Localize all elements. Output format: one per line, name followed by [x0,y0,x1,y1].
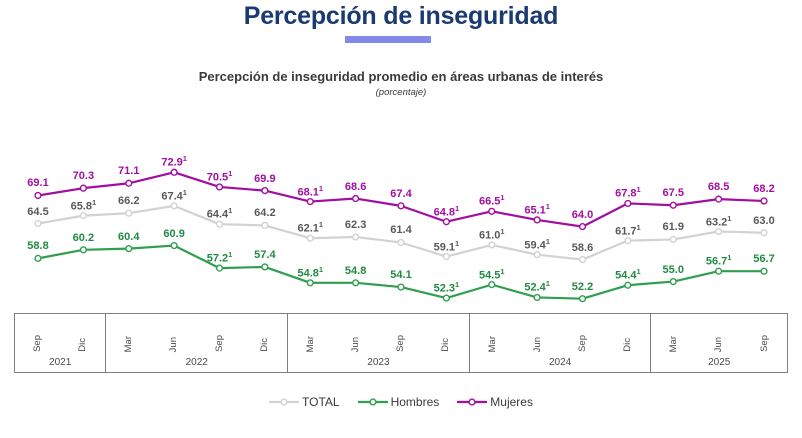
axis-month-label: Sep [215,334,225,352]
data-point-hombres[interactable] [126,246,132,252]
data-point-total[interactable] [489,242,495,248]
data-label-hombres: 54.51 [479,268,505,282]
x-axis-table: SepDic2021MarJunSepDic2022MarJunSepDic20… [14,313,788,373]
axis-month-label: Sep [760,334,770,352]
data-label-hombres: 57.4 [254,250,275,261]
footnote-marker: 1 [319,184,323,193]
data-point-mujeres[interactable] [126,180,132,186]
axis-month-label: Sep [396,334,406,352]
footnote-marker: 1 [546,279,550,288]
data-label-hombres: 52.41 [524,280,550,294]
chart-page: Percepción de inseguridad Percepción de … [0,0,802,438]
data-label-mujeres: 70.3 [73,171,94,182]
data-point-total[interactable] [625,238,631,244]
legend-item-mujeres[interactable]: Mujeres [457,395,533,409]
data-label-hombres: 60.2 [73,233,94,244]
footnote-marker: 1 [500,193,504,202]
data-point-total[interactable] [262,222,268,228]
data-label-total: 64.2 [254,208,275,219]
data-point-total[interactable] [353,234,359,240]
data-label-mujeres: 67.5 [663,188,684,199]
data-label-total: 62.11 [297,221,323,235]
data-point-total[interactable] [398,240,404,246]
footnote-marker: 1 [500,227,504,236]
axis-month-label: Dic [441,337,451,352]
data-point-hombres[interactable] [307,280,313,286]
footnote-marker: 1 [727,214,731,223]
axis-year-label: 2021 [15,352,105,372]
data-point-mujeres[interactable] [580,224,586,230]
data-label-total: 67.41 [161,189,187,203]
data-point-total[interactable] [443,254,449,260]
data-label-total: 64.5 [27,207,48,218]
data-label-total: 63.21 [706,215,732,229]
footnote-marker: 1 [546,237,550,246]
axis-month-label: Mar [306,335,316,352]
axis-year-label: 2023 [288,352,469,372]
data-label-mujeres: 66.51 [479,194,505,208]
legend-label: Mujeres [490,395,533,409]
data-point-mujeres[interactable] [398,203,404,209]
legend-swatch-icon [457,396,487,408]
data-label-total: 63.0 [753,216,774,227]
data-point-hombres[interactable] [670,279,676,285]
axis-month-label: Dic [78,337,88,352]
data-label-hombres: 54.8 [345,266,366,277]
data-point-total[interactable] [80,213,86,219]
data-point-mujeres[interactable] [489,208,495,214]
data-point-total[interactable] [171,203,177,209]
data-point-hombres[interactable] [443,295,449,301]
data-label-hombres: 52.2 [572,282,593,293]
data-point-hombres[interactable] [398,284,404,290]
data-label-total: 61.4 [390,225,411,236]
footnote-marker: 1 [319,220,323,229]
data-point-total[interactable] [307,235,313,241]
data-label-mujeres: 70.51 [207,170,233,184]
data-point-mujeres[interactable] [761,198,767,204]
data-label-hombres: 60.9 [163,229,184,240]
data-point-hombres[interactable] [262,264,268,270]
data-point-mujeres[interactable] [217,184,223,190]
data-label-mujeres: 68.2 [753,184,774,195]
axis-year-group-2025: MarJunSep2025 [651,314,787,372]
axis-month-label: Jun [169,336,179,352]
footnote-marker: 1 [500,267,504,276]
data-point-mujeres[interactable] [35,193,41,199]
axis-year-group-2023: MarJunSepDic2023 [288,314,470,372]
footnote-marker: 1 [637,223,641,232]
data-point-total[interactable] [126,210,132,216]
data-point-mujeres[interactable] [534,217,540,223]
data-label-total: 59.11 [434,240,460,254]
data-point-hombres[interactable] [353,280,359,286]
footnote-marker: 1 [455,239,459,248]
data-point-hombres[interactable] [625,282,631,288]
data-label-total: 59.41 [524,238,550,252]
data-point-hombres[interactable] [80,247,86,253]
data-point-mujeres[interactable] [716,196,722,202]
data-label-total: 66.2 [118,196,139,207]
axis-month-row: MarJunSep [651,314,787,352]
data-label-hombres: 54.81 [297,266,323,280]
footnote-marker: 1 [455,204,459,213]
data-point-total[interactable] [580,257,586,263]
data-label-hombres: 56.71 [706,254,732,268]
data-label-total: 64.41 [207,207,233,221]
data-label-mujeres: 71.1 [118,166,139,177]
axis-month-label: Jun [714,336,724,352]
data-label-mujeres: 69.1 [27,178,48,189]
data-label-mujeres: 68.11 [297,185,323,199]
data-point-mujeres[interactable] [670,202,676,208]
axis-month-row: SepDic [15,314,105,352]
data-point-total[interactable] [35,221,41,227]
axis-month-label: Sep [578,334,588,352]
data-point-total[interactable] [217,221,223,227]
legend-item-hombres[interactable]: Hombres [358,395,440,409]
legend-item-total[interactable]: TOTAL [269,395,340,409]
data-point-hombres[interactable] [217,265,223,271]
data-point-mujeres[interactable] [625,201,631,207]
data-point-mujeres[interactable] [353,196,359,202]
axis-month-label: Dic [260,337,270,352]
axis-year-label: 2022 [106,352,287,372]
axis-month-label: Jun [533,336,543,352]
data-label-hombres: 57.21 [207,251,233,265]
footnote-marker: 1 [228,169,232,178]
data-point-total[interactable] [761,230,767,236]
footnote-marker: 1 [183,188,187,197]
legend-label: Hombres [391,395,440,409]
data-point-hombres[interactable] [35,255,41,261]
data-point-mujeres[interactable] [307,199,313,205]
axis-year-label: 2025 [651,352,787,372]
legend-swatch-icon [269,396,299,408]
data-label-total: 62.3 [345,220,366,231]
footnote-marker: 1 [637,185,641,194]
footnote-marker: 1 [183,154,187,163]
data-label-mujeres: 69.9 [254,174,275,185]
data-label-mujeres: 68.6 [345,182,366,193]
data-point-total[interactable] [716,229,722,235]
data-point-mujeres[interactable] [171,169,177,175]
data-label-mujeres: 72.91 [161,155,187,169]
data-point-hombres[interactable] [580,296,586,302]
data-point-hombres[interactable] [171,243,177,249]
data-label-hombres: 56.7 [753,254,774,265]
axis-month-row: MarJunSepDic [106,314,287,352]
footnote-marker: 1 [637,267,641,276]
data-label-total: 61.01 [479,228,505,242]
data-label-hombres: 58.8 [27,241,48,252]
data-point-mujeres[interactable] [262,188,268,194]
data-label-mujeres: 64.0 [572,210,593,221]
data-label-total: 61.71 [615,224,641,238]
data-point-hombres[interactable] [761,268,767,274]
footnote-marker: 1 [727,253,731,262]
legend-swatch-icon [358,396,388,408]
data-point-total[interactable] [670,237,676,243]
footnote-marker: 1 [228,206,232,215]
data-label-total: 65.81 [71,199,97,213]
data-label-mujeres: 68.5 [708,182,729,193]
data-point-hombres[interactable] [716,268,722,274]
axis-year-group-2021: SepDic2021 [15,314,106,372]
data-label-total: 61.9 [663,222,684,233]
footnote-marker: 1 [228,250,232,259]
chart-legend: TOTALHombresMujeres [0,395,802,409]
data-label-mujeres: 65.11 [524,203,550,217]
data-point-mujeres[interactable] [443,219,449,225]
footnote-marker: 1 [455,280,459,289]
axis-month-label: Dic [623,337,633,352]
legend-label: TOTAL [302,395,340,409]
data-point-hombres[interactable] [534,295,540,301]
axis-month-label: Mar [669,335,679,352]
data-label-hombres: 55.0 [663,265,684,276]
footnote-marker: 1 [92,198,96,207]
axis-year-label: 2024 [470,352,651,372]
data-point-hombres[interactable] [489,282,495,288]
data-point-mujeres[interactable] [80,185,86,191]
axis-year-group-2024: MarJunSepDic2024 [470,314,652,372]
data-label-hombres: 60.4 [118,232,139,243]
axis-month-label: Mar [124,335,134,352]
data-point-total[interactable] [534,252,540,258]
data-label-hombres: 54.41 [615,268,641,282]
axis-month-label: Jun [351,336,361,352]
footnote-marker: 1 [546,202,550,211]
footnote-marker: 1 [319,265,323,274]
data-label-mujeres: 67.4 [390,189,411,200]
axis-month-label: Mar [488,335,498,352]
axis-month-label: Sep [33,334,43,352]
axis-month-row: MarJunSepDic [288,314,469,352]
data-label-total: 58.6 [572,243,593,254]
data-label-hombres: 52.31 [434,281,460,295]
data-label-hombres: 54.1 [390,270,411,281]
axis-year-group-2022: MarJunSepDic2022 [106,314,288,372]
data-label-mujeres: 64.81 [434,205,460,219]
axis-month-row: MarJunSepDic [470,314,651,352]
data-label-mujeres: 67.81 [615,186,641,200]
